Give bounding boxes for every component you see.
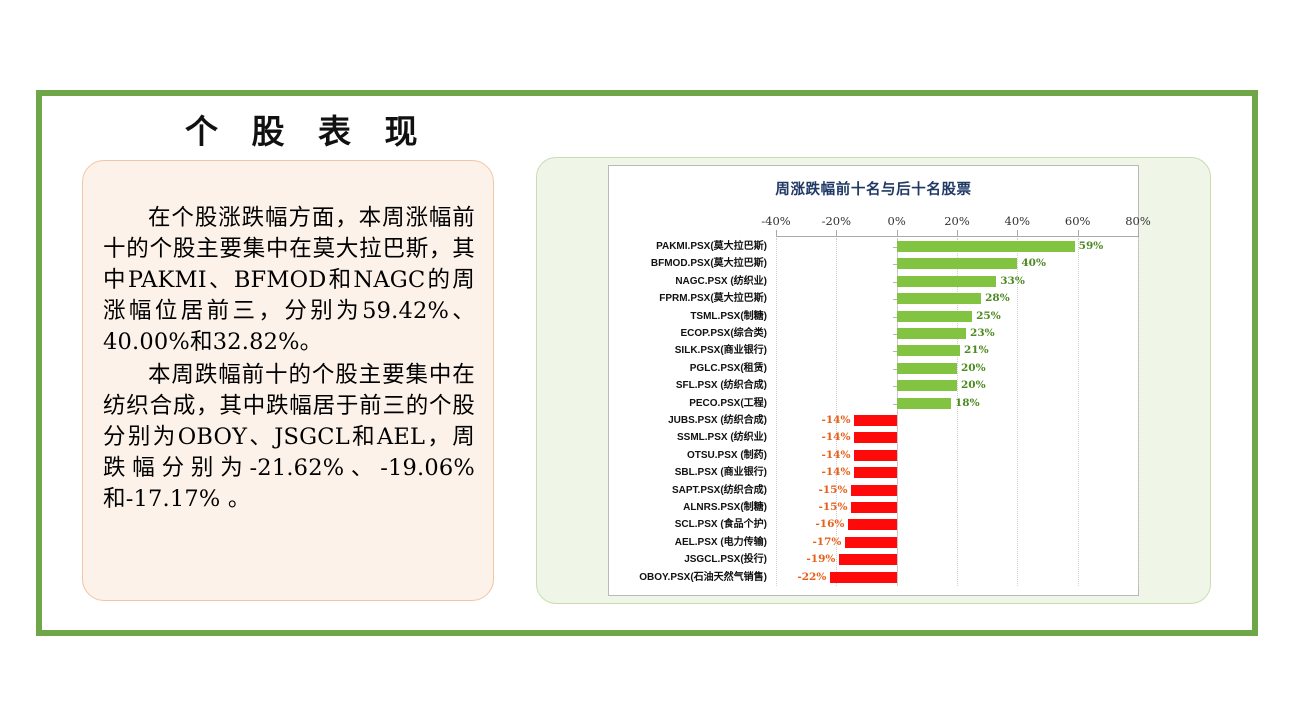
bar [897, 241, 1075, 252]
bar-data-label: 20% [961, 380, 986, 391]
category-label: PAKMI.PSX(莫大拉巴斯) [656, 241, 767, 252]
bar [897, 345, 960, 356]
bar [897, 328, 966, 339]
bar [845, 537, 896, 548]
bar-data-label: 21% [964, 345, 989, 356]
bar [897, 311, 972, 322]
category-label: SFL.PSX (纺织合成) [676, 380, 767, 391]
x-tick-label: 80% [1125, 214, 1151, 228]
x-axis-tick [1017, 230, 1018, 237]
bar [897, 293, 981, 304]
bar [897, 380, 957, 391]
x-tick-label: -20% [822, 214, 851, 228]
bar [848, 519, 896, 530]
bar [851, 502, 896, 513]
bar-data-label: -16% [815, 519, 844, 530]
bar-row: SBL.PSX (商业银行)-14% [776, 464, 1138, 481]
bar-data-label: -14% [821, 415, 850, 426]
x-axis-tick [957, 230, 958, 237]
bar-row: BFMOD.PSX(莫大拉巴斯)40% [776, 255, 1138, 272]
bar-data-label: 20% [961, 363, 986, 374]
bar-row: OTSU.PSX (制药)-14% [776, 447, 1138, 464]
bar [839, 554, 896, 565]
bar [897, 258, 1018, 269]
bar-row: ALNRS.PSX(制糖)-15% [776, 499, 1138, 516]
bar [854, 450, 896, 461]
bar-row: PECO.PSX(工程)18% [776, 395, 1138, 412]
x-tick-label: -40% [761, 214, 790, 228]
bar-data-label: 40% [1021, 258, 1046, 269]
bar-row: OBOY.PSX(石油天然气销售)-22% [776, 569, 1138, 586]
slide-canvas: 个 股 表 现 在个股涨跌幅方面，本周涨幅前十的个股主要集中在莫大拉巴斯，其中P… [0, 0, 1300, 726]
category-label: FPRM.PSX(莫大拉巴斯) [659, 293, 767, 304]
bar [830, 572, 896, 583]
gridline-80 [1138, 238, 1140, 586]
category-label: SAPT.PSX(纺织合成) [672, 485, 767, 496]
bar-data-label: 25% [976, 311, 1001, 322]
chart-panel: 周涨跌幅前十名与后十名股票 -40%-20%0%20%40%60%80% PAK… [608, 165, 1139, 596]
plot-area: PAKMI.PSX(莫大拉巴斯)59%BFMOD.PSX(莫大拉巴斯)40%NA… [776, 238, 1138, 586]
category-label: BFMOD.PSX(莫大拉巴斯) [651, 258, 767, 269]
bar-data-label: -22% [797, 572, 826, 583]
x-tick-label: 40% [1005, 214, 1031, 228]
x-axis-tick [776, 230, 777, 237]
x-tick-label: 60% [1065, 214, 1091, 228]
bar-row: NAGC.PSX (纺织业)33% [776, 273, 1138, 290]
bar-row: AEL.PSX (电力传输)-17% [776, 534, 1138, 551]
bar-row: PAKMI.PSX(莫大拉巴斯)59% [776, 238, 1138, 255]
bar-data-label: 28% [985, 293, 1010, 304]
category-label: AEL.PSX (电力传输) [675, 537, 767, 548]
category-label: JUBS.PSX (纺织合成) [668, 415, 767, 426]
bar-data-label: -17% [812, 537, 841, 548]
bar [897, 398, 951, 409]
bar-data-label: -14% [821, 450, 850, 461]
bar-data-label: 23% [970, 328, 995, 339]
x-tick-label: 20% [944, 214, 970, 228]
category-label: JSGCL.PSX(投行) [684, 554, 767, 565]
bar [854, 415, 896, 426]
category-label: ECOP.PSX(综合类) [681, 328, 768, 339]
bar-data-label: -15% [818, 485, 847, 496]
bar-data-label: 59% [1079, 241, 1104, 252]
category-label: SBL.PSX (商业银行) [675, 467, 767, 478]
bar [854, 467, 896, 478]
category-label: OTSU.PSX (制药) [687, 450, 767, 461]
bar [897, 276, 997, 287]
bar-row: FPRM.PSX(莫大拉巴斯)28% [776, 290, 1138, 307]
bar [897, 363, 957, 374]
category-label: NAGC.PSX (纺织业) [675, 276, 767, 287]
bar-row: SILK.PSX(商业银行)21% [776, 342, 1138, 359]
bar-row: SFL.PSX (纺织合成)20% [776, 377, 1138, 394]
bar-row: SCL.PSX (食品个护)-16% [776, 516, 1138, 533]
page-title: 个 股 表 现 [185, 105, 428, 153]
bar-row: TSML.PSX(制糖)25% [776, 308, 1138, 325]
x-axis-tick [836, 230, 837, 237]
category-label: SCL.PSX (食品个护) [675, 519, 767, 530]
commentary-paragraph-1: 在个股涨跌幅方面，本周涨幅前十的个股主要集中在莫大拉巴斯，其中PAKMI、BFM… [103, 203, 475, 358]
category-label: OBOY.PSX(石油天然气销售) [639, 572, 767, 583]
x-axis-tick [1078, 230, 1079, 237]
bar-data-label: -14% [821, 432, 850, 443]
bar-row: PGLC.PSX(租赁)20% [776, 360, 1138, 377]
bar-row: ECOP.PSX(综合类)23% [776, 325, 1138, 342]
commentary-paragraph-2: 本周跌幅前十的个股主要集中在纺织合成，其中跌幅居于前三的个股分别为OBOY、JS… [103, 360, 475, 515]
category-label: SILK.PSX(商业银行) [675, 345, 767, 356]
bar [854, 432, 896, 443]
chart-title: 周涨跌幅前十名与后十名股票 [609, 178, 1138, 199]
category-label: TSML.PSX(制糖) [690, 311, 767, 322]
bar [851, 485, 896, 496]
bar-data-label: 18% [955, 398, 980, 409]
x-axis-tick [897, 230, 898, 237]
bar-data-label: -15% [818, 502, 847, 513]
bar-row: JSGCL.PSX(投行)-19% [776, 551, 1138, 568]
bar-row: JUBS.PSX (纺织合成)-14% [776, 412, 1138, 429]
x-axis-tick [1138, 230, 1139, 237]
bar-data-label: -19% [806, 554, 835, 565]
category-label: ALNRS.PSX(制糖) [683, 502, 767, 513]
category-label: PGLC.PSX(租赁) [690, 363, 767, 374]
commentary-card: 在个股涨跌幅方面，本周涨幅前十的个股主要集中在莫大拉巴斯，其中PAKMI、BFM… [82, 160, 494, 601]
category-label: PECO.PSX(工程) [689, 398, 767, 409]
bar-row: SAPT.PSX(纺织合成)-15% [776, 482, 1138, 499]
bar-row: SSML.PSX (纺织业)-14% [776, 429, 1138, 446]
bar-data-label: -14% [821, 467, 850, 478]
x-tick-label: 0% [888, 214, 906, 228]
category-label: SSML.PSX (纺织业) [677, 432, 767, 443]
bar-data-label: 33% [1000, 276, 1025, 287]
